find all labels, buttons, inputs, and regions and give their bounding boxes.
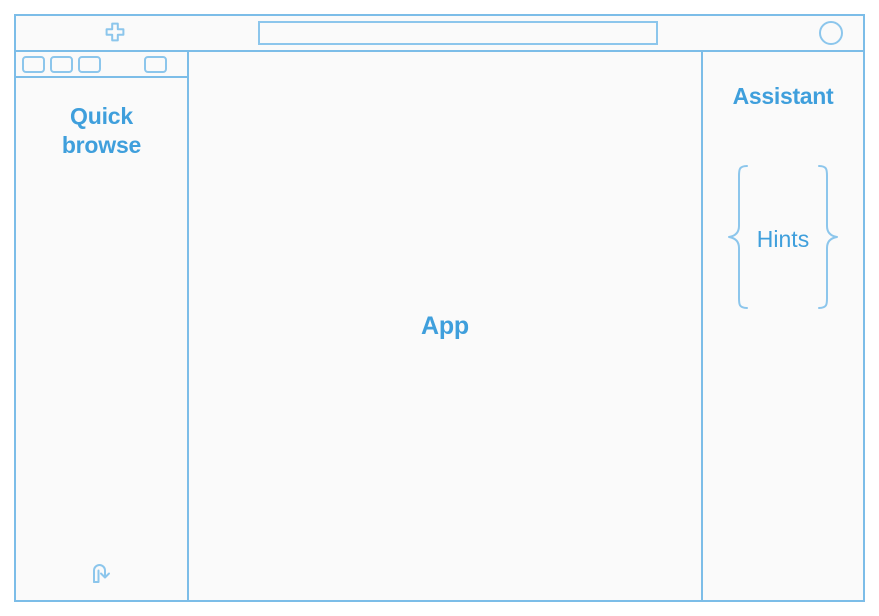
header-bar <box>16 16 863 52</box>
window-body: Quick browse App Assistant <box>16 52 863 600</box>
sidebar: Quick browse <box>16 52 189 600</box>
hints-label: Hints <box>753 226 813 253</box>
plus-icon <box>104 21 126 46</box>
sidebar-item-tab-3[interactable] <box>78 56 101 73</box>
avatar[interactable] <box>819 21 843 45</box>
app-window: Quick browse App Assistant <box>14 14 865 602</box>
sidebar-item-tab-4[interactable] <box>144 56 167 73</box>
brace-left-icon <box>725 164 751 315</box>
app-canvas[interactable]: App <box>189 52 703 600</box>
sidebar-tab-bar <box>16 52 187 78</box>
back-button[interactable] <box>87 560 117 588</box>
sidebar-item-tab-1[interactable] <box>22 56 45 73</box>
add-button[interactable] <box>100 20 130 46</box>
hints-group: Hints <box>725 164 841 315</box>
brace-right-icon <box>815 164 841 315</box>
sidebar-title: Quick browse <box>32 102 172 160</box>
assistant-panel: Assistant Hints <box>703 52 863 600</box>
search-input[interactable] <box>258 21 658 45</box>
sidebar-item-tab-2[interactable] <box>50 56 73 73</box>
app-label: App <box>421 312 469 341</box>
sidebar-content: Quick browse <box>16 78 187 600</box>
u-turn-arrow-icon <box>89 560 115 588</box>
assistant-title: Assistant <box>733 83 834 110</box>
